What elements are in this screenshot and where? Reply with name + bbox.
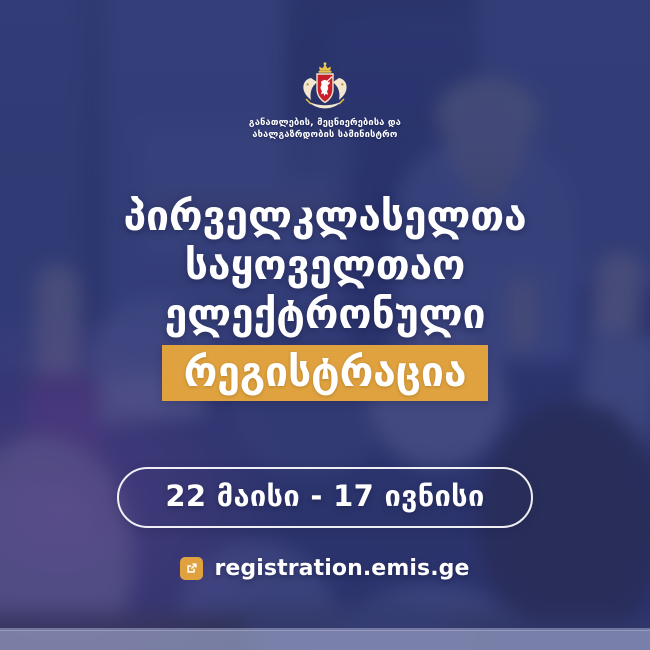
date-range-pill: 22 მაისი - 17 ივნისი: [117, 467, 532, 528]
ministry-lockup: განათლების, მეცნიერებისა და ახალგაზრდობი…: [249, 62, 401, 142]
external-link-icon: [180, 557, 203, 580]
headline-line-3: ელექტრონული: [124, 290, 527, 339]
registration-poster: განათლების, მეცნიერებისა და ახალგაზრდობი…: [0, 0, 650, 650]
ministry-name-line-2: ახალგაზრდობის სამინისტრო: [249, 129, 401, 141]
georgia-coat-of-arms-icon: [298, 62, 352, 110]
headline-line-1: პირველკლასელთა: [124, 192, 527, 241]
highlight-row: რეგისტრაცია: [162, 345, 489, 401]
registration-link[interactable]: registration.emis.ge: [180, 556, 469, 581]
poster-content: განათლების, მეცნიერებისა და ახალგაზრდობი…: [0, 0, 650, 650]
registration-url[interactable]: registration.emis.ge: [214, 556, 469, 581]
ministry-name: განათლების, მეცნიერებისა და ახალგაზრდობი…: [249, 117, 401, 142]
ministry-name-line-1: განათლების, მეცნიერებისა და: [249, 117, 401, 129]
headline-line-2: საყოველთაო: [124, 241, 527, 290]
registration-highlight-badge: რეგისტრაცია: [162, 345, 489, 401]
headline: პირველკლასელთა საყოველთაო ელექტრონული: [124, 192, 527, 339]
